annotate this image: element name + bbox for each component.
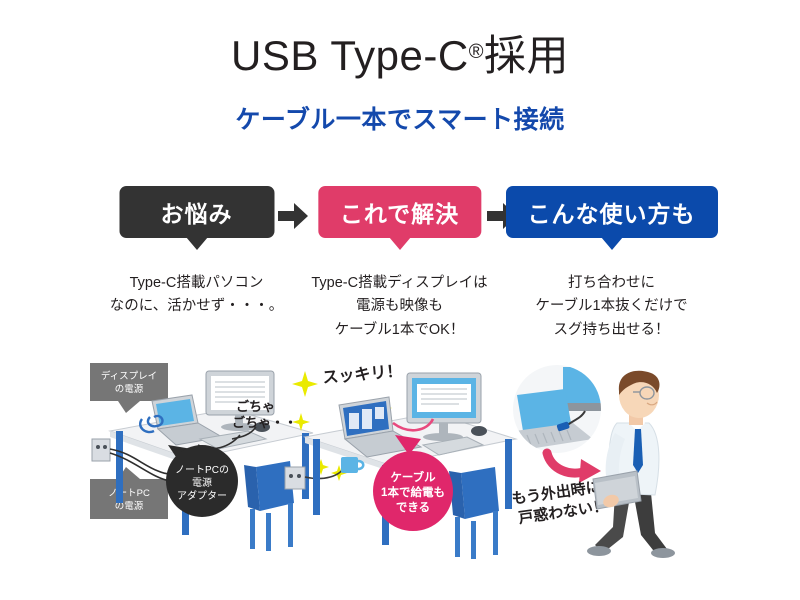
badge-tail-solution	[389, 237, 411, 250]
wall-outlet-icon	[92, 439, 110, 461]
cluttered-desk-illustration: ディスプレイ の電源 ノートPC の電源	[80, 361, 313, 561]
caption-line: なのに、活かせず・・・。	[80, 295, 313, 318]
caption-line: ケーブル1本でOK！	[283, 319, 516, 342]
businessman-figure	[587, 371, 675, 558]
caption-line: Type-C搭載ディスプレイは	[283, 272, 516, 295]
chair-icon	[449, 467, 499, 559]
badge-wrap-problem: お悩み	[80, 186, 313, 248]
label-display-power-line2: の電源	[115, 384, 144, 395]
badge-problem[interactable]: お悩み	[119, 186, 274, 238]
annotation-line1: ごちゃ	[236, 399, 275, 414]
badge-tail-problem	[186, 237, 208, 250]
badge-wrap-usecase: こんな使い方も	[495, 186, 728, 248]
caption-problem: Type-C搭載パソコン なのに、活かせず・・・。	[80, 272, 313, 319]
page-subtitle: ケーブル一本でスマート接続	[0, 100, 800, 136]
label-box-laptop-power: ノートPC の電源	[90, 467, 168, 519]
sparkle-icon	[292, 413, 310, 431]
caption-line: 電源も映像も	[283, 295, 516, 318]
callout-circle-power-adapter: ノートPCの 電源 アダプター	[166, 445, 238, 517]
tidy-desk-illustration: スッキリ！	[283, 361, 516, 561]
registered-trademark-icon: ®	[469, 41, 484, 63]
column-problem: お悩み Type-C搭載パソコン なのに、活かせず・・・。 ディスプレイ の電源…	[80, 186, 313, 596]
badge-wrap-solution: これで解決	[283, 186, 516, 248]
callout-line2: 1本で給電も	[381, 485, 445, 499]
page-title-main: USB Type-C	[231, 32, 469, 79]
column-usecase: こんな使い方も 打ち合わせに ケーブル1本抜くだけで スグ持ち出せる！	[495, 186, 728, 596]
sparkle-icon	[292, 371, 318, 397]
badge-solution[interactable]: これで解決	[318, 186, 481, 238]
caption-line: ケーブル1本抜くだけで	[495, 295, 728, 318]
callout-line1: ノートPCの	[175, 465, 229, 476]
caption-solution: Type-C搭載ディスプレイは 電源も映像も ケーブル1本でOK！	[283, 272, 516, 342]
column-solution: これで解決 Type-C搭載ディスプレイは 電源も映像も ケーブル1本でOK！ …	[283, 186, 516, 596]
caption-line: Type-C搭載パソコン	[80, 272, 313, 295]
caption-line: 打ち合わせに	[495, 272, 728, 295]
badge-usecase[interactable]: こんな使い方も	[506, 186, 718, 238]
wall-outlet-icon	[285, 467, 305, 489]
mouse-icon	[471, 426, 487, 436]
caption-line: スグ持ち出せる！	[495, 319, 728, 342]
label-laptop-power-line1: ノートPC	[108, 488, 150, 499]
callout-line3: できる	[396, 501, 430, 514]
callout-line2: 電源	[192, 476, 212, 489]
page-title: USB Type-C®採用	[0, 22, 800, 83]
annotation-tidy: スッキリ！	[322, 363, 403, 387]
businessman-walking-illustration: もう外出時に 戸惑わない！	[495, 361, 728, 561]
caption-usecase: 打ち合わせに ケーブル1本抜くだけで スグ持ち出せる！	[495, 272, 728, 342]
label-display-power-line1: ディスプレイ	[101, 370, 157, 382]
badge-tail-usecase	[601, 237, 623, 250]
unplug-cable-inset	[513, 365, 619, 453]
columns-container: お悩み Type-C搭載パソコン なのに、活かせず・・・。 ディスプレイ の電源…	[0, 186, 800, 596]
page-title-suffix: 採用	[484, 32, 569, 79]
callout-line1: ケーブル	[390, 470, 436, 484]
callout-line3: アダプター	[177, 489, 227, 502]
